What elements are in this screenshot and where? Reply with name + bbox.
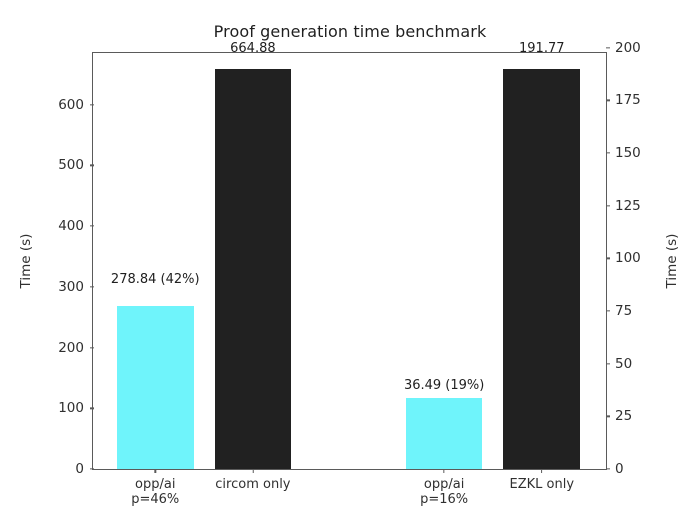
- plot-area: 0 100 200 300 400 500 600 0 25 50 75 100…: [92, 52, 607, 470]
- bar-ezkl-only[interactable]: [503, 69, 580, 469]
- y-tick-right-150: 150: [606, 145, 641, 161]
- y-tick-right-125: 125: [606, 198, 641, 214]
- x-tick-circom-only: circom only: [215, 469, 290, 492]
- y-tick-left-500: 500: [58, 157, 93, 173]
- bars-layer: 278.84 (42%) 664.88 36.49 (19%) 191.77: [93, 53, 606, 469]
- x-tick-line1: opp/ai: [420, 477, 468, 492]
- y-axis-label-left: Time (s): [18, 234, 34, 289]
- y-tick-left-200: 200: [58, 340, 93, 356]
- y-tick-left-100: 100: [58, 400, 93, 416]
- y-tick-left-400: 400: [58, 218, 93, 234]
- y-tick-right-200: 200: [606, 40, 641, 56]
- x-tick-line1: opp/ai: [131, 477, 179, 492]
- bar-circom-only[interactable]: [215, 69, 292, 469]
- bar-oppai-p16[interactable]: [406, 398, 483, 469]
- x-tick-line2: p=16%: [420, 492, 468, 507]
- y-tick-right-175: 175: [606, 92, 641, 108]
- y-tick-left-600: 600: [58, 97, 93, 113]
- x-tick-oppai-p16: opp/ai p=16%: [420, 469, 468, 507]
- y-tick-right-25: 25: [606, 408, 632, 424]
- x-tick-line1: circom only: [215, 477, 290, 492]
- bar-value-label-oppai-p46: 278.84 (42%): [111, 272, 200, 287]
- chart-title: Proof generation time benchmark: [92, 22, 608, 41]
- y-tick-left-0: 0: [75, 461, 93, 477]
- bar-value-label-circom-only: 664.88: [230, 41, 276, 56]
- y-tick-left-300: 300: [58, 279, 93, 295]
- y-tick-right-75: 75: [606, 303, 632, 319]
- bar-value-label-oppai-p16: 36.49 (19%): [404, 378, 484, 393]
- bar-value-label-ezkl-only: 191.77: [519, 41, 565, 56]
- x-tick-line1: EZKL only: [510, 477, 575, 492]
- chart-figure: Proof generation time benchmark Time (s)…: [0, 0, 693, 526]
- y-axis-label-right: Time (s): [664, 234, 680, 289]
- bar-oppai-p46[interactable]: [117, 306, 194, 469]
- x-tick-line2: p=46%: [131, 492, 179, 507]
- y-tick-right-100: 100: [606, 250, 641, 266]
- y-tick-right-0: 0: [606, 461, 624, 477]
- y-tick-right-50: 50: [606, 356, 632, 372]
- x-tick-oppai-p46: opp/ai p=46%: [131, 469, 179, 507]
- x-tick-ezkl-only: EZKL only: [510, 469, 575, 492]
